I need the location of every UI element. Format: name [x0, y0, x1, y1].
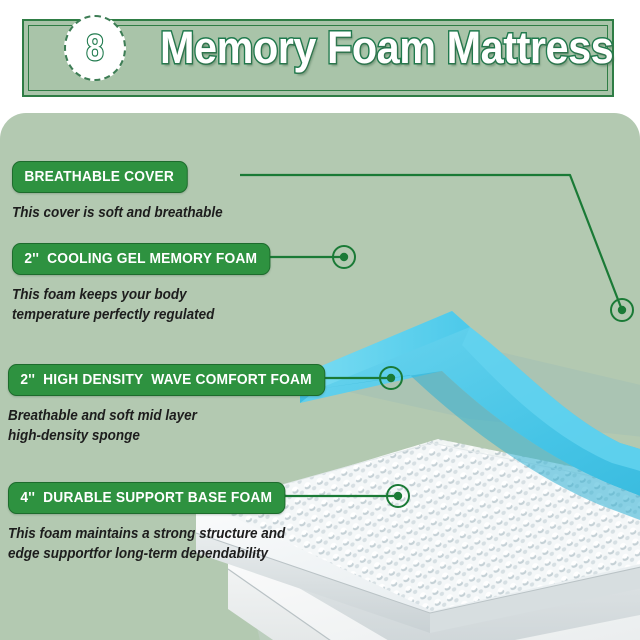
callout-label-cooling-gel-memory-foam[interactable]: 2'' COOLING GEL MEMORY FOAM [12, 243, 270, 275]
callout-breathable-cover: BREATHABLE COVER This cover is soft and … [12, 161, 238, 223]
callout-label-durable-support-base-foam[interactable]: 4'' DURABLE SUPPORT BASE FOAM [8, 482, 285, 514]
callout-description-wave-comfort-foam: Breathable and soft mid layer high-densi… [8, 406, 318, 446]
content-panel: BREATHABLE COVER This cover is soft and … [0, 113, 640, 640]
step-number-badge: 8 [64, 15, 126, 81]
page-title: Memory Foam Mattress [160, 16, 613, 80]
callout-label-wave-comfort-foam[interactable]: 2'' HIGH DENSITY WAVE COMFORT FOAM [8, 364, 325, 396]
callout-wave-comfort-foam: 2'' HIGH DENSITY WAVE COMFORT FOAM Breat… [8, 364, 342, 446]
callout-description-breathable-cover: This cover is soft and breathable [12, 203, 223, 223]
callout-cooling-gel-memory-foam: 2'' COOLING GEL MEMORY FOAM This foam ke… [12, 243, 284, 325]
callout-durable-support-base-foam: 4'' DURABLE SUPPORT BASE FOAM This foam … [8, 482, 306, 564]
callout-description-durable-support-base-foam: This foam maintains a strong structure a… [8, 524, 285, 564]
infographic-root: 8 Memory Foam Mattress [0, 0, 640, 640]
callout-description-cooling-gel-memory-foam: This foam keeps your body temperature pe… [12, 285, 265, 325]
callout-label-breathable-cover[interactable]: BREATHABLE COVER [12, 161, 187, 193]
step-number-text: 8 [86, 30, 103, 66]
